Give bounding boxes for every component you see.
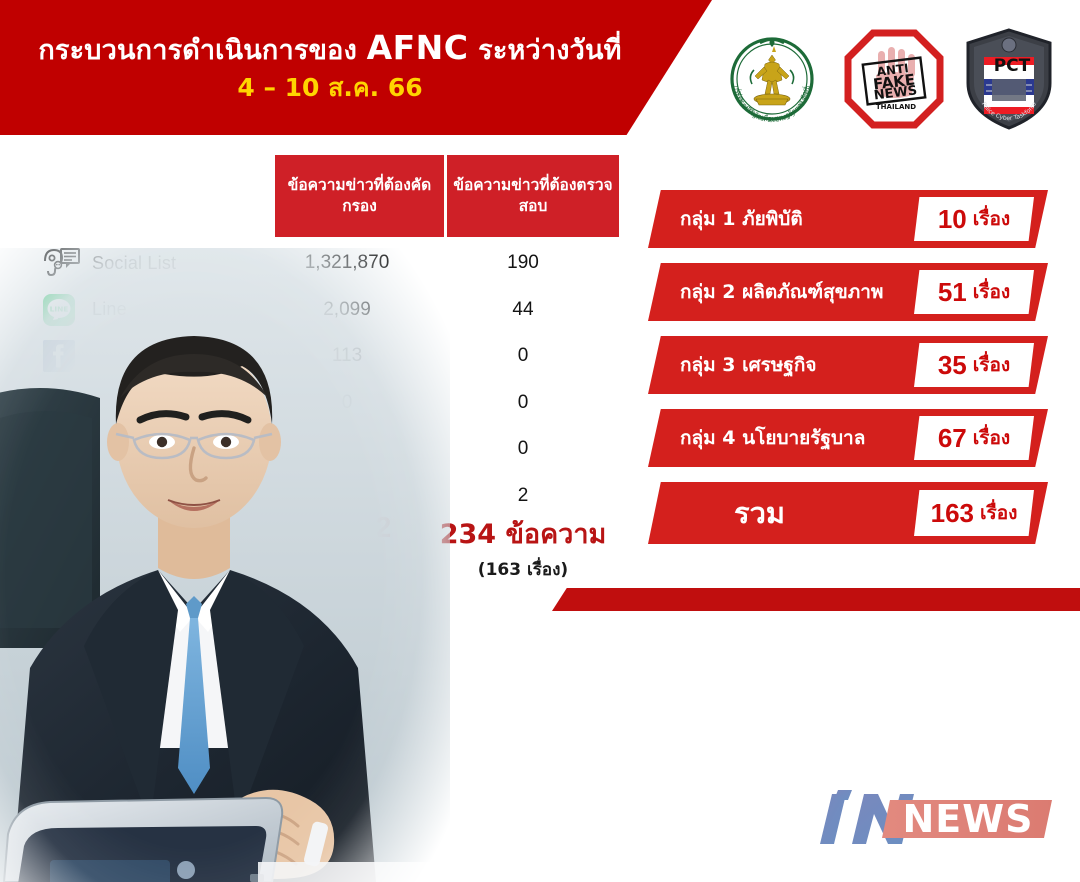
group-count: 10: [938, 204, 967, 235]
group-unit: เรื่อง: [973, 423, 1010, 453]
total-verify-value: 234 ข้อความ: [437, 512, 609, 555]
group-unit: เรื่อง: [973, 204, 1010, 234]
row-verify-value: 0: [437, 345, 609, 367]
group-label: กลุ่ม 3 เศรษฐกิจ: [680, 350, 817, 380]
row-verify-value: 44: [437, 299, 609, 321]
group-total-badge: 163 เรื่อง: [914, 490, 1034, 536]
anti-fake-news-thailand-logo: ANTI FAKE NEWS THAILAND: [842, 27, 946, 131]
header-text-block: กระบวนการดำเนินการของ AFNC ระหว่างวันที่…: [0, 0, 660, 135]
group-label: กลุ่ม 1 ภัยพิบัติ: [680, 204, 803, 234]
group-count: 51: [938, 277, 967, 308]
group-count: 67: [938, 423, 967, 454]
svg-text:THAILAND: THAILAND: [876, 103, 916, 111]
column-header-screen: ข้อความข่าวที่ต้องคัดกรอง: [275, 155, 444, 237]
row-verify-value: 190: [437, 252, 609, 274]
header-title-acronym: AFNC: [367, 28, 469, 67]
header-title: กระบวนการดำเนินการของ AFNC ระหว่างวันที่: [38, 27, 621, 69]
group-label: กลุ่ม 2 ผลิตภัณฑ์สุขภาพ: [680, 277, 883, 307]
total-verify-block: 234 ข้อความ (163 เรื่อง): [437, 512, 609, 583]
group-count-badge: 67 เรื่อง: [914, 416, 1034, 460]
group-label: กลุ่ม 4 นโยบายรัฐบาล: [680, 423, 865, 453]
svg-text:NEWS: NEWS: [902, 797, 1033, 841]
infographic-canvas: กระบวนการดำเนินการของ AFNC ระหว่างวันที่…: [0, 0, 1080, 882]
group-count-badge: 51 เรื่อง: [914, 270, 1034, 314]
group-bar-2: กลุ่ม 2 ผลิตภัณฑ์สุขภาพ 51 เรื่อง: [648, 263, 1048, 321]
total-verify-subvalue: (163 เรื่อง): [437, 556, 609, 583]
group-unit: เรื่อง: [973, 350, 1010, 380]
group-count-badge: 35 เรื่อง: [914, 343, 1034, 387]
group-total-label: รวม: [734, 490, 785, 536]
logo-row: กระทรวงดิจิทัลเพื่อเศรษฐกิจและสังคม Mini…: [718, 24, 1070, 134]
group-bar-total: รวม 163 เรื่อง: [648, 482, 1048, 544]
svg-text:PCT: PCT: [994, 56, 1031, 76]
group-bar-4: กลุ่ม 4 นโยบายรัฐบาล 67 เรื่อง: [648, 409, 1048, 467]
group-count-badge: 10 เรื่อง: [914, 197, 1034, 241]
group-summary-list: กลุ่ม 1 ภัยพิบัติ 10 เรื่อง กลุ่ม 2 ผลิต…: [648, 190, 1048, 559]
group-total-count: 163: [931, 498, 974, 529]
header-title-prefix: กระบวนการดำเนินการของ: [38, 35, 366, 66]
pct-police-cyber-taskforce-shield: PCT Police Cyber Taskforce: [962, 27, 1056, 131]
table-header-row: ข้อความข่าวที่ต้องคัดกรอง ข้อความข่าวที่…: [275, 155, 619, 237]
group-bar-3: กลุ่ม 3 เศรษฐกิจ 35 เรื่อง: [648, 336, 1048, 394]
header-title-suffix: ระหว่างวันที่: [469, 35, 622, 66]
group-unit: เรื่อง: [973, 277, 1010, 307]
group-count: 35: [938, 350, 967, 381]
decorative-bottom-strip: [552, 588, 1080, 611]
group-total-unit: เรื่อง: [980, 498, 1017, 528]
group-bar-1: กลุ่ม 1 ภัยพิบัติ 10 เรื่อง: [648, 190, 1048, 248]
spokesperson-photo: [0, 248, 450, 882]
header-date-range: 4 – 10 ส.ค. 66: [237, 71, 422, 105]
column-header-verify: ข้อความข่าวที่ต้องตรวจสอบ: [447, 155, 619, 237]
row-verify-value: 0: [437, 438, 609, 460]
row-verify-value: 0: [437, 392, 609, 414]
row-verify-value: 2: [437, 485, 609, 507]
in-news-watermark: NEWS: [812, 784, 1062, 860]
ministry-of-digital-economy-and-society-seal: กระทรวงดิจิทัลเพื่อเศรษฐกิจและสังคม Mini…: [718, 25, 826, 133]
